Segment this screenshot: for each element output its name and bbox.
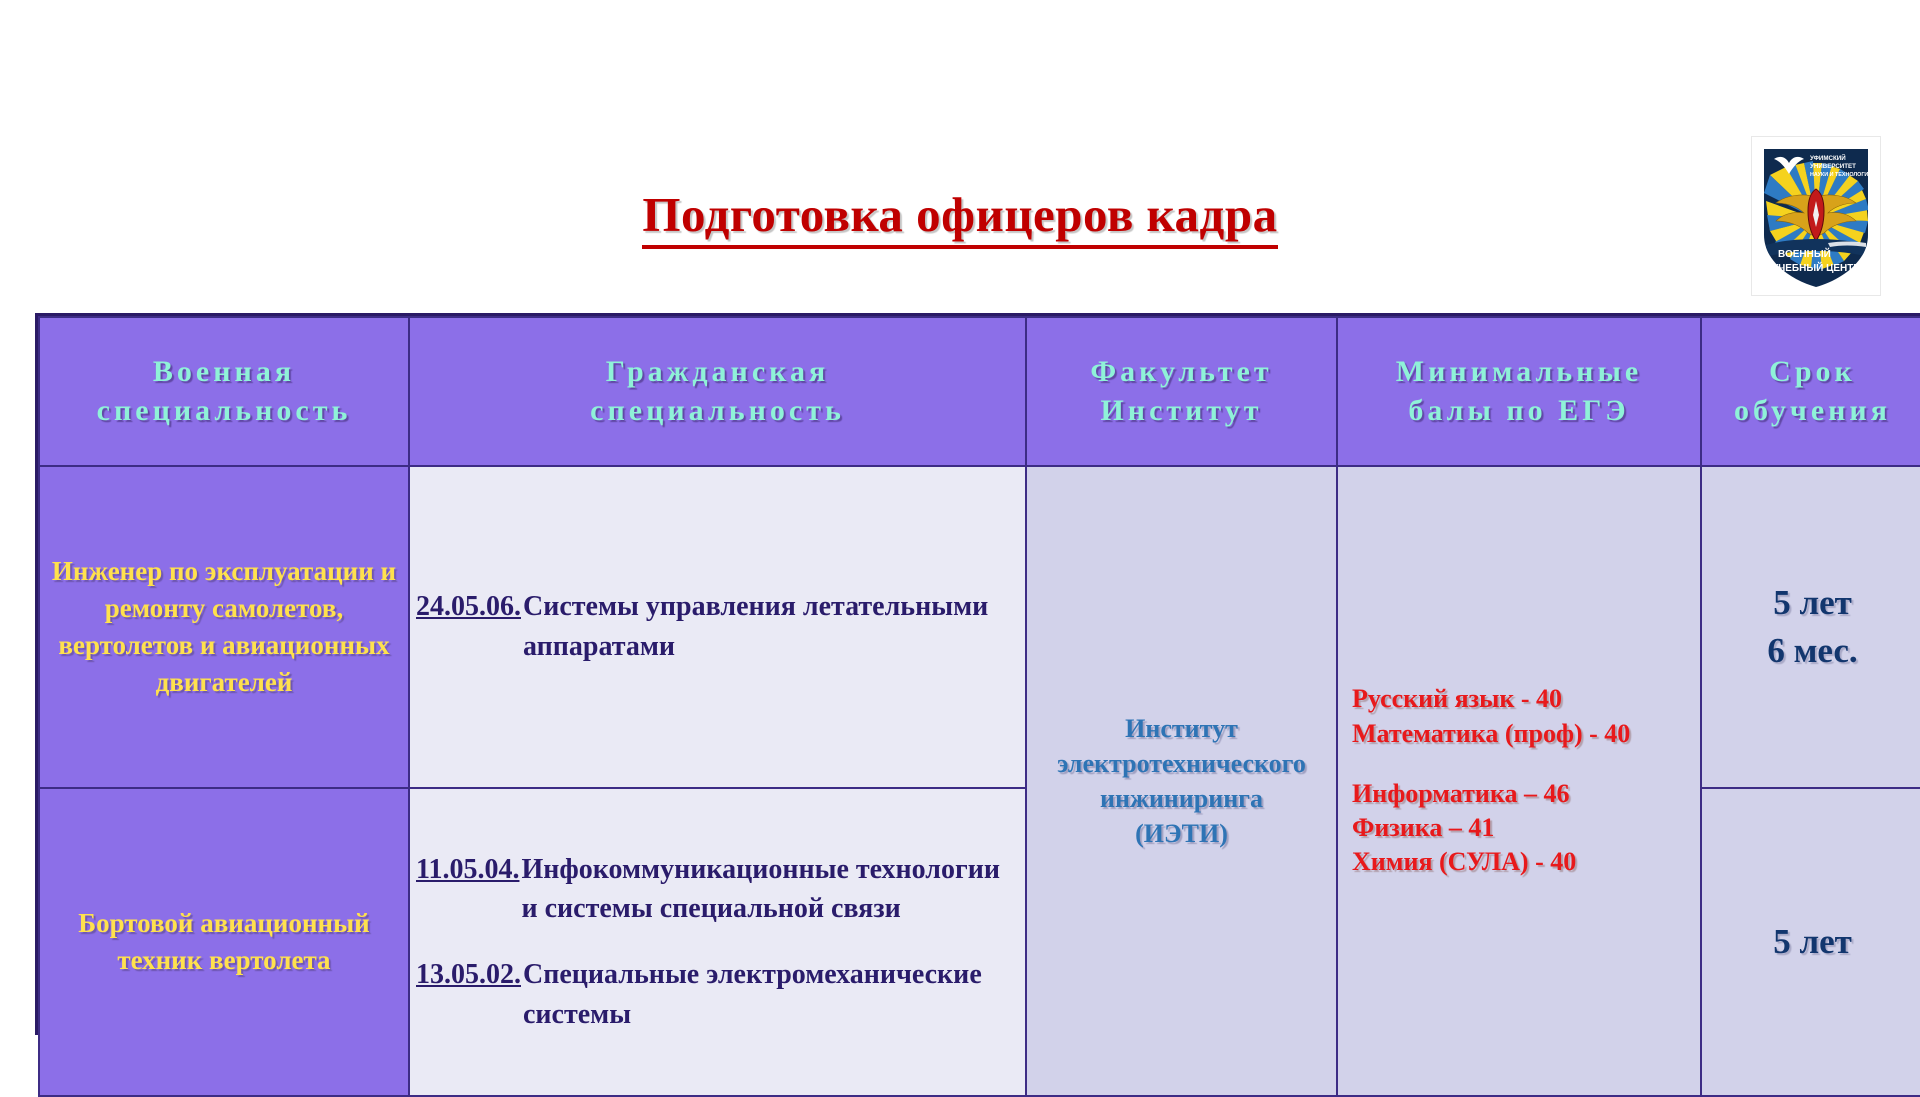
ege-score-item: Математика (проф) - 40 <box>1352 717 1700 751</box>
institute-line: Институт <box>1027 711 1336 746</box>
institute-line: электротехнического <box>1027 746 1336 781</box>
cell-ege-scores: Русский язык - 40 Математика (проф) - 40… <box>1337 466 1701 1096</box>
header-line: специальность <box>410 392 1025 430</box>
military-specialty-text: Инженер по эксплуатации и ремонту самоле… <box>40 553 408 702</box>
cell-institute: Институт электротехнического инжиниринга… <box>1026 466 1337 1096</box>
duration-line: 5 лет <box>1702 918 1920 966</box>
ege-score-item: Химия (СУЛА) - 40 <box>1352 845 1700 879</box>
civil-specialty-name: Системы управления летательными аппарата… <box>521 587 1015 667</box>
ege-score-item: Физика – 41 <box>1352 811 1700 845</box>
civil-specialty-code: 24.05.06. <box>410 587 521 627</box>
civil-specialty-entry: 13.05.02. Специальные электромеханически… <box>410 955 1015 1035</box>
column-header-faculty-institute: Факультет Институт <box>1026 317 1337 466</box>
shield-emblem-icon: УФИМСКИЙ УНИВЕРСИТЕТ НАУКИ И ТЕХНОЛОГИЙ … <box>1758 141 1874 291</box>
table-row: Инженер по эксплуатации и ремонту самоле… <box>39 466 1920 788</box>
duration-line: 5 лет <box>1702 579 1920 627</box>
cell-duration-1: 5 лет 6 мес. <box>1701 466 1920 788</box>
logo-univ-line2: УНИВЕРСИТЕТ <box>1810 163 1856 170</box>
cell-civil-specialty-2: 11.05.04. Инфокоммуникационные технологи… <box>409 788 1026 1096</box>
civil-specialty-code: 13.05.02. <box>410 955 521 995</box>
column-header-study-duration: Срок обучения <box>1701 317 1920 466</box>
cell-military-specialty-2: Бортовой авиационный техник вертолета <box>39 788 409 1096</box>
header-line: Институт <box>1027 392 1336 430</box>
column-header-min-ege-scores: Минимальные балы по ЕГЭ <box>1337 317 1701 466</box>
civil-specialty-entry: 11.05.04. Инфокоммуникационные технологи… <box>410 850 1015 930</box>
slide-root: Подготовка офицеров кадра <box>0 0 1920 1080</box>
ege-score-item: Информатика – 46 <box>1352 777 1700 811</box>
header-line: Гражданская <box>410 353 1025 391</box>
ege-score-gap <box>1352 751 1700 777</box>
header-line: специальность <box>40 392 408 430</box>
institute-line: (ИЭТИ) <box>1027 816 1336 851</box>
header-line: Военная <box>40 353 408 391</box>
logo-center-line1: ВОЕННЫЙ <box>1778 247 1831 260</box>
column-header-civil-specialty: Гражданская специальность <box>409 317 1026 466</box>
military-specialty-text: Бортовой авиационный техник вертолета <box>40 905 408 980</box>
cell-military-specialty-1: Инженер по эксплуатации и ремонту самоле… <box>39 466 409 788</box>
column-header-military-specialty: Военная специальность <box>39 317 409 466</box>
header-line: балы по ЕГЭ <box>1338 392 1700 430</box>
cell-civil-specialty-1: 24.05.06. Системы управления летательным… <box>409 466 1026 788</box>
page-title-text: Подготовка офицеров кадра <box>642 187 1277 249</box>
header-line: обучения <box>1702 392 1920 430</box>
header-line: Минимальные <box>1338 353 1700 391</box>
logo-univ-line1: УФИМСКИЙ <box>1810 154 1846 162</box>
civil-specialty-code: 11.05.04. <box>410 850 519 890</box>
military-training-center-logo: УФИМСКИЙ УНИВЕРСИТЕТ НАУКИ И ТЕХНОЛОГИЙ … <box>1752 137 1880 295</box>
civil-specialty-entry: 24.05.06. Системы управления летательным… <box>410 587 1015 667</box>
logo-univ-line3: НАУКИ И ТЕХНОЛОГИЙ <box>1810 170 1872 178</box>
header-line: Факультет <box>1027 353 1336 391</box>
specialties-table: Военная специальность Гражданская специа… <box>35 313 1920 1035</box>
duration-line: 6 мес. <box>1702 627 1920 675</box>
cell-duration-2: 5 лет <box>1701 788 1920 1096</box>
institute-line: инжиниринга <box>1027 781 1336 816</box>
civil-specialty-name: Инфокоммуникационные технологии и систем… <box>519 850 1015 930</box>
table-header-row: Военная специальность Гражданская специа… <box>39 317 1920 466</box>
logo-center-line2: УЧЕБНЫЙ ЦЕНТР <box>1772 261 1860 274</box>
page-title: Подготовка офицеров кадра <box>0 186 1920 243</box>
header-line: Срок <box>1702 353 1920 391</box>
civil-specialty-name: Специальные электромеханические системы <box>521 955 1015 1035</box>
ege-score-item: Русский язык - 40 <box>1352 682 1700 716</box>
